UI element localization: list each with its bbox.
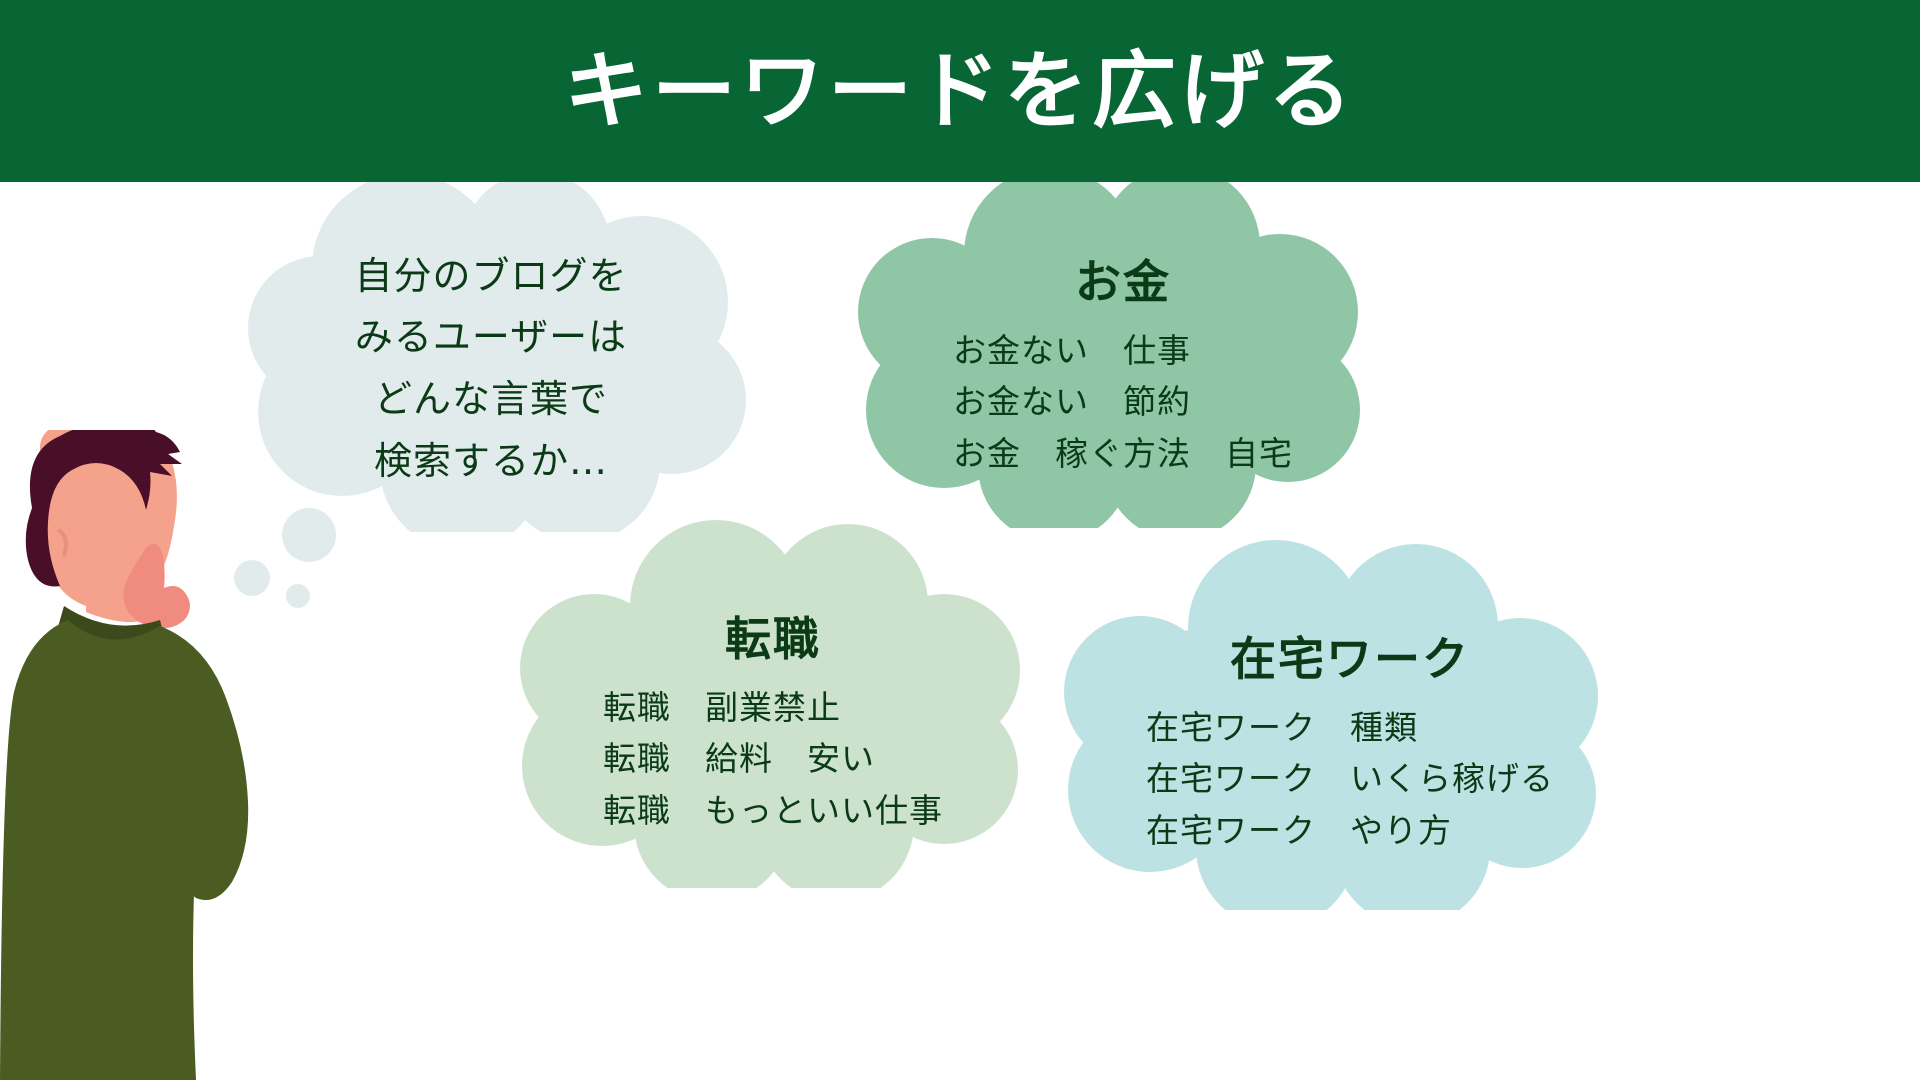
thought-line: 自分のブログを bbox=[354, 246, 627, 308]
career-cloud-content: 転職 転職 副業禁止 転職 給料 安い 転職 もっといい仕事 bbox=[500, 518, 1020, 888]
keyword-cloud-career: 転職 転職 副業禁止 転職 給料 安い 転職 もっといい仕事 bbox=[500, 518, 1020, 888]
keyword-cloud-remote-work: 在宅ワーク 在宅ワーク 種類 在宅ワーク いくら稼げる 在宅ワーク やり方 bbox=[1040, 540, 1600, 910]
thinking-person-illustration bbox=[0, 430, 330, 1080]
thought-line: みるユーザーは bbox=[355, 307, 627, 369]
keyword-item: お金ない 節約 bbox=[953, 379, 1293, 425]
keyword-item: 転職 副業禁止 bbox=[603, 685, 943, 731]
keyword-cloud-money: お金 お金ない 仕事 お金ない 節約 お金 稼ぐ方法 自宅 bbox=[840, 168, 1360, 528]
person-svg bbox=[0, 430, 330, 1080]
keyword-item: 転職 もっといい仕事 bbox=[603, 788, 943, 834]
header-banner: キーワードを広げる bbox=[0, 0, 1920, 182]
cloud-title-money: お金 bbox=[1075, 246, 1171, 312]
keyword-item: お金ない 仕事 bbox=[953, 328, 1293, 374]
money-cloud-content: お金 お金ない 仕事 お金ない 節約 お金 稼ぐ方法 自宅 bbox=[840, 168, 1360, 528]
slide-canvas: キーワードを広げる bbox=[0, 0, 1920, 1080]
cloud-title-career: 転職 bbox=[725, 603, 821, 669]
cloud-title-remote: 在宅ワーク bbox=[1230, 623, 1470, 689]
thought-line: どんな言葉で bbox=[374, 369, 608, 431]
keyword-item: 在宅ワーク やり方 bbox=[1146, 808, 1554, 854]
remote-cloud-content: 在宅ワーク 在宅ワーク 種類 在宅ワーク いくら稼げる 在宅ワーク やり方 bbox=[1040, 540, 1600, 910]
keyword-item: 在宅ワーク いくら稼げる bbox=[1146, 756, 1554, 802]
cloud-keyword-list-remote: 在宅ワーク 種類 在宅ワーク いくら稼げる 在宅ワーク やり方 bbox=[1146, 705, 1554, 854]
thought-line: 検索するか… bbox=[374, 431, 608, 493]
cloud-keyword-list-career: 転職 副業禁止 転職 給料 安い 転職 もっといい仕事 bbox=[603, 685, 943, 834]
page-title: キーワードを広げる bbox=[564, 49, 1356, 133]
keyword-item: お金 稼ぐ方法 自宅 bbox=[953, 431, 1293, 477]
keyword-item: 在宅ワーク 種類 bbox=[1146, 705, 1554, 751]
cloud-keyword-list-money: お金ない 仕事 お金ない 節約 お金 稼ぐ方法 自宅 bbox=[953, 328, 1293, 477]
keyword-item: 転職 給料 安い bbox=[603, 736, 943, 782]
